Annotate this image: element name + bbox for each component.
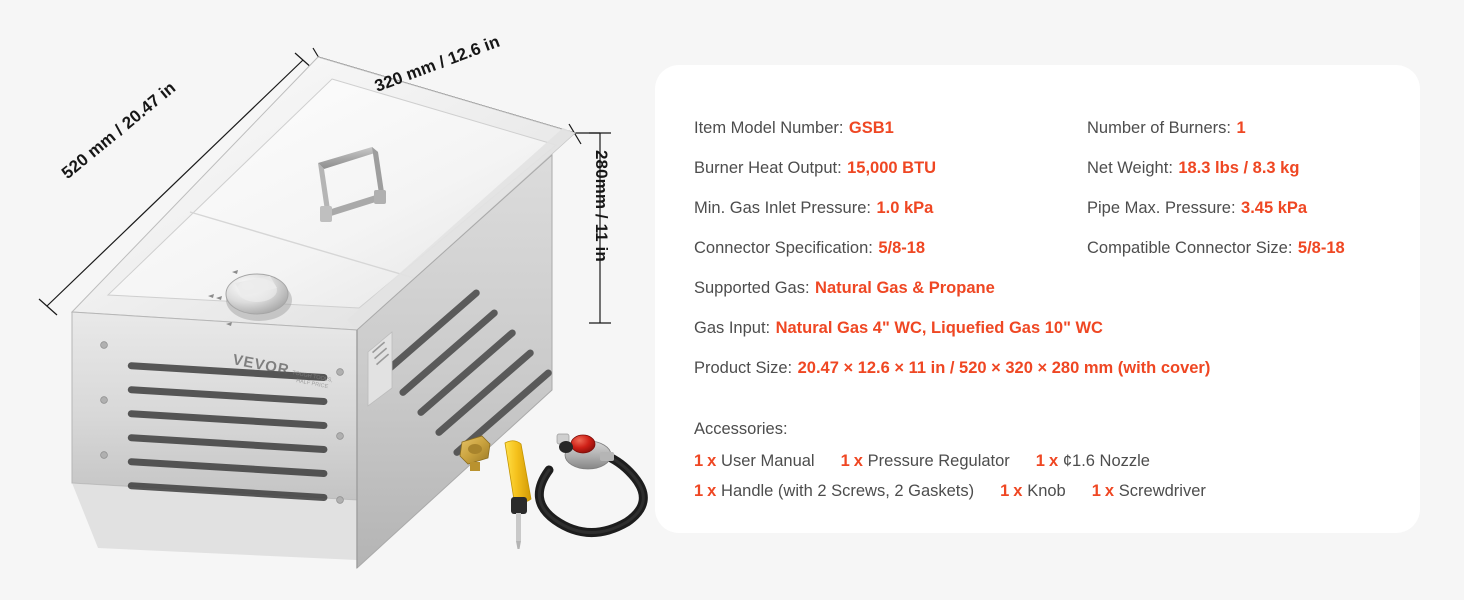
product-figure: VEVOR TOUGH TOOLS, HALF PRICE <box>0 0 655 600</box>
spec-item-product-size: Product Size: 20.47 × 12.6 × 11 in / 520… <box>694 359 1394 378</box>
spec-row: Item Model Number: GSB1 Number of Burner… <box>694 108 1394 148</box>
spec-item-number-of-burners: Number of Burners: 1 <box>1087 119 1246 138</box>
specification-list: Item Model Number: GSB1 Number of Burner… <box>694 108 1394 388</box>
spec-item-net-weight: Net Weight: 18.3 lbs / 8.3 kg <box>1087 159 1299 178</box>
accessories-row: 1 x User Manual 1 x Pressure Regulator 1… <box>694 446 1394 476</box>
accessory-name: Handle (with 2 Screws, 2 Gaskets) <box>721 482 974 501</box>
spec-item-supported-gas: Supported Gas: Natural Gas & Propane <box>694 279 1394 298</box>
product-illustration: VEVOR TOUGH TOOLS, HALF PRICE <box>0 0 655 600</box>
accessory-handle: 1 x Handle (with 2 Screws, 2 Gaskets) <box>694 482 974 501</box>
accessory-quantity: 1 x <box>694 452 716 471</box>
accessory-name: Screwdriver <box>1119 482 1206 501</box>
spec-row: Min. Gas Inlet Pressure: 1.0 kPa Pipe Ma… <box>694 188 1394 228</box>
spec-value: 5/8-18 <box>1298 239 1345 257</box>
spec-value: Natural Gas 4" WC, Liquefied Gas 10" WC <box>776 319 1103 337</box>
spec-label: Item Model Number: <box>694 119 843 137</box>
accessory-screwdriver: 1 x Screwdriver <box>1092 482 1206 501</box>
spec-label: Pipe Max. Pressure: <box>1087 199 1236 217</box>
accessories-row: 1 x Handle (with 2 Screws, 2 Gaskets) 1 … <box>694 476 1394 506</box>
spec-value: 5/8-18 <box>878 239 925 257</box>
spec-value: Natural Gas & Propane <box>815 279 995 297</box>
accessory-quantity: 1 x <box>1000 482 1022 501</box>
accessories-title: Accessories: <box>694 420 1394 439</box>
spec-item-connector-specification: Connector Specification: 5/8-18 <box>694 239 1087 258</box>
spec-label: Burner Heat Output: <box>694 159 842 177</box>
spec-row: Supported Gas: Natural Gas & Propane <box>694 268 1394 308</box>
accessory-nozzle: 1 x ¢1.6 Nozzle <box>1036 452 1150 471</box>
spec-value: 18.3 lbs / 8.3 kg <box>1178 159 1299 177</box>
spec-value: 1 <box>1236 119 1245 137</box>
spec-label: Supported Gas: <box>694 279 810 297</box>
screwdriver-accessory <box>505 441 531 549</box>
spec-row: Connector Specification: 5/8-18 Compatib… <box>694 228 1394 268</box>
spec-item-min-gas-inlet-pressure: Min. Gas Inlet Pressure: 1.0 kPa <box>694 199 1087 218</box>
spec-value: 20.47 × 12.6 × 11 in / 520 × 320 × 280 m… <box>798 359 1211 377</box>
spec-row: Product Size: 20.47 × 12.6 × 11 in / 520… <box>694 348 1394 388</box>
accessory-pressure-regulator: 1 x Pressure Regulator <box>841 452 1010 471</box>
specification-panel: Item Model Number: GSB1 Number of Burner… <box>655 65 1420 533</box>
spec-item-item-model-number: Item Model Number: GSB1 <box>694 119 1087 138</box>
burner-body: VEVOR TOUGH TOOLS, HALF PRICE <box>72 57 575 568</box>
spec-item-burner-heat-output: Burner Heat Output: 15,000 BTU <box>694 159 1087 178</box>
spec-row: Burner Heat Output: 15,000 BTU Net Weigh… <box>694 148 1394 188</box>
accessory-name: ¢1.6 Nozzle <box>1063 452 1150 471</box>
spec-value: GSB1 <box>849 119 894 137</box>
accessory-quantity: 1 x <box>694 482 716 501</box>
accessory-quantity: 1 x <box>841 452 863 471</box>
accessory-knob: 1 x Knob <box>1000 482 1066 501</box>
spec-label: Net Weight: <box>1087 159 1173 177</box>
spec-label: Gas Input: <box>694 319 770 337</box>
spec-value: 15,000 BTU <box>847 159 936 177</box>
spec-value: 3.45 kPa <box>1241 199 1307 217</box>
accessory-user-manual: 1 x User Manual <box>694 452 815 471</box>
pressure-regulator-accessory <box>539 434 643 533</box>
spec-label: Number of Burners: <box>1087 119 1231 137</box>
spec-label: Compatible Connector Size: <box>1087 239 1292 257</box>
accessory-name: Knob <box>1027 482 1066 501</box>
spec-item-pipe-max-pressure: Pipe Max. Pressure: 3.45 kPa <box>1087 199 1307 218</box>
spec-row: Gas Input: Natural Gas 4" WC, Liquefied … <box>694 308 1394 348</box>
spec-item-compatible-connector-size: Compatible Connector Size: 5/8-18 <box>1087 239 1345 258</box>
accessories-section: Accessories: 1 x User Manual 1 x Pressur… <box>694 420 1394 506</box>
accessory-name: Pressure Regulator <box>868 452 1010 471</box>
spec-label: Product Size: <box>694 359 792 377</box>
accessories-illustration <box>460 434 643 549</box>
accessory-quantity: 1 x <box>1092 482 1114 501</box>
accessory-name: User Manual <box>721 452 815 471</box>
accessory-quantity: 1 x <box>1036 452 1058 471</box>
spec-label: Connector Specification: <box>694 239 873 257</box>
spec-value: 1.0 kPa <box>876 199 933 217</box>
spec-item-gas-input: Gas Input: Natural Gas 4" WC, Liquefied … <box>694 319 1394 338</box>
dimension-label-height: 280mm / 11 in <box>591 150 611 262</box>
spec-label: Min. Gas Inlet Pressure: <box>694 199 871 217</box>
